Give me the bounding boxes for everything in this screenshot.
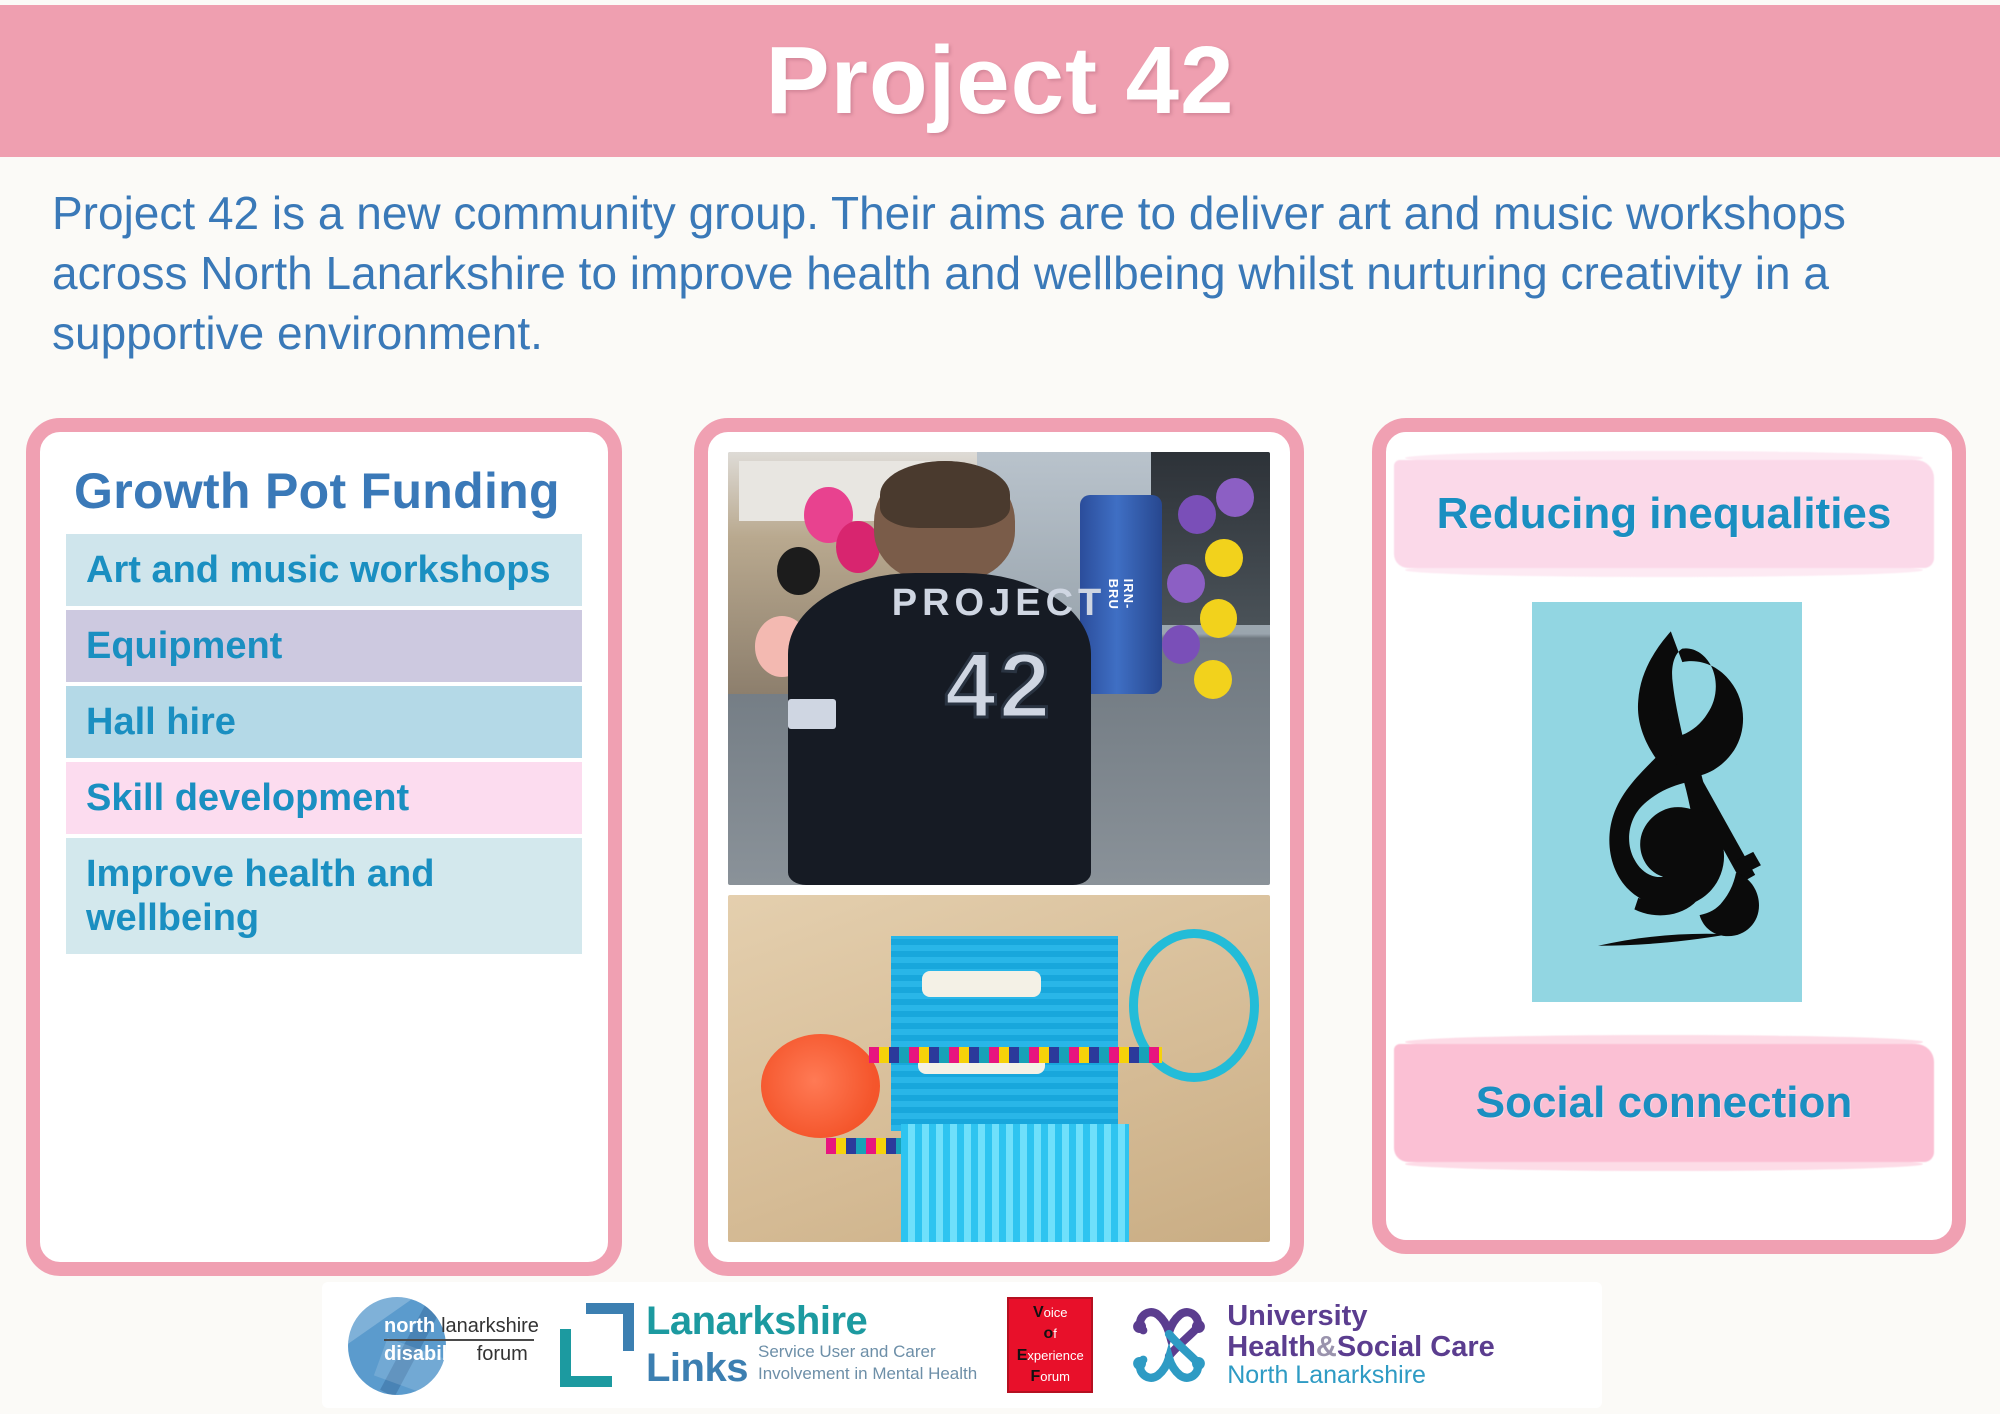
funding-item: Art and music workshops <box>66 534 582 606</box>
funding-item: Equipment <box>66 610 582 682</box>
funding-item-label: Equipment <box>86 624 282 668</box>
voef-rest-oice: oice <box>1044 1306 1068 1319</box>
logo-voice-of-experience-forum: Voice of Experience Forum <box>1007 1297 1093 1393</box>
funding-item-label: Skill development <box>86 776 409 820</box>
ll-word-lanarkshire: Lanarkshire <box>646 1302 977 1341</box>
partner-logo-strip: north lanarkshire disability forum Lanar… <box>322 1282 1602 1408</box>
poster-page: Project 42 Project 42 is a new community… <box>0 0 2000 1414</box>
ndf-word-disability: disability <box>384 1343 471 1366</box>
outcomes-card: Reducing inequalities Social connection <box>1372 418 1966 1254</box>
treble-clef-paintbrush-icon <box>1532 602 1802 1002</box>
voef-cap-e: E <box>1017 1348 1028 1364</box>
uhsc-line-north-lanarkshire: North Lanarkshire <box>1227 1362 1495 1389</box>
voef-cap-o: o <box>1044 1326 1054 1342</box>
uhsc-word-health: Health <box>1227 1331 1316 1363</box>
voef-cap-v: V <box>1033 1305 1044 1321</box>
ll-sub-line2: Involvement in Mental Health <box>758 1363 977 1384</box>
ndf-word-north: north <box>384 1315 435 1338</box>
voef-rest-xperience: xperience <box>1027 1349 1083 1362</box>
jersey-number: 42 <box>728 634 1270 739</box>
uhsc-ampersand: & <box>1316 1331 1337 1363</box>
uhsc-word-social-care: Social Care <box>1337 1331 1495 1363</box>
uhsc-line-university: University <box>1227 1301 1495 1332</box>
lanarkshire-links-squares-icon <box>560 1303 634 1387</box>
logo-north-lanarkshire-disability-forum: north lanarkshire disability forum <box>348 1293 530 1397</box>
funding-item-list: Art and music workshopsEquipmentHall hir… <box>66 534 582 954</box>
logo-university-health-social-care: University Health&Social Care North Lana… <box>1123 1301 1495 1389</box>
growth-pot-funding-card: Growth Pot Funding Art and music worksho… <box>26 418 622 1276</box>
funding-item-label: Improve health and wellbeing <box>86 852 578 940</box>
voef-rest-f: f <box>1053 1327 1057 1340</box>
funding-item: Skill development <box>66 762 582 834</box>
page-title: Project 42 <box>766 33 1235 129</box>
intro-paragraph: Project 42 is a new community group. The… <box>52 184 1942 363</box>
cards-row: Growth Pot Funding Art and music worksho… <box>0 418 2000 1276</box>
banner-label-bottom: Social connection <box>1476 1078 1853 1128</box>
ndf-word-forum: forum <box>477 1343 528 1366</box>
photo-project42-jersey: PROJECT 42 <box>728 452 1270 885</box>
voef-rest-orum: orum <box>1040 1370 1070 1383</box>
photo-yarn-weaving <box>728 895 1270 1242</box>
logo-lanarkshire-links: Lanarkshire Links Service User and Carer… <box>560 1302 977 1388</box>
jersey-word: PROJECT <box>728 582 1270 625</box>
funding-item: Hall hire <box>66 686 582 758</box>
funding-item-label: Hall hire <box>86 700 236 744</box>
ll-sub-line1: Service User and Carer <box>758 1341 977 1362</box>
card-title-growth-pot-funding: Growth Pot Funding <box>74 462 582 520</box>
header-band: Project 42 <box>0 5 2000 157</box>
funding-item: Improve health and wellbeing <box>66 838 582 954</box>
ndf-word-lanarkshire: lanarkshire <box>441 1315 539 1338</box>
ll-word-links: Links <box>646 1349 748 1388</box>
photos-card: PROJECT 42 <box>694 418 1304 1276</box>
banner-label-top: Reducing inequalities <box>1437 489 1892 539</box>
voef-cap-f: F <box>1031 1369 1041 1385</box>
funding-item-label: Art and music workshops <box>86 548 551 592</box>
interlocking-hearts-icon <box>1123 1302 1215 1388</box>
banner-reducing-inequalities: Reducing inequalities <box>1394 460 1934 568</box>
banner-social-connection: Social connection <box>1394 1044 1934 1162</box>
